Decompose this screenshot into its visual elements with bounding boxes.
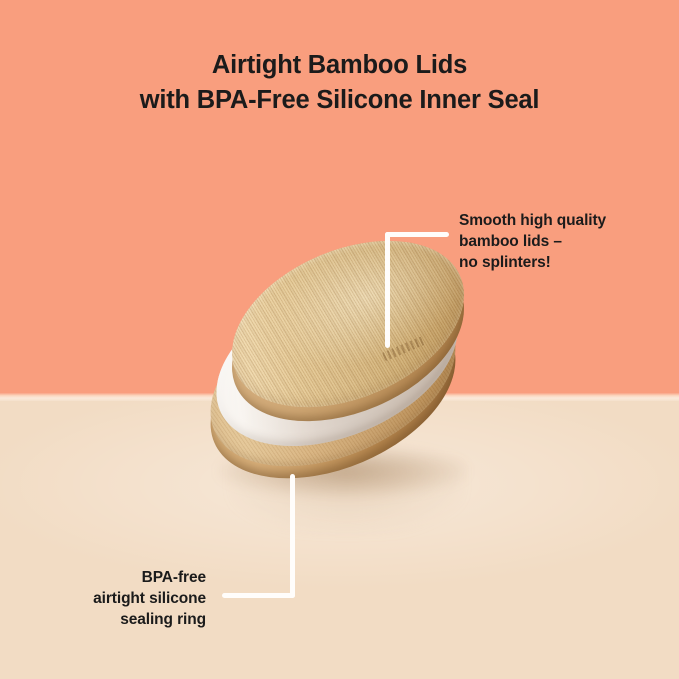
- title-line-1: Airtight Bamboo Lids: [212, 51, 467, 79]
- leader-line-right-vertical: [385, 232, 390, 348]
- callout-bamboo-quality-line-2: bamboo lids –: [459, 231, 659, 252]
- leader-line-bottom-horizontal: [222, 593, 295, 598]
- callout-silicone-seal-line-1: BPA-free: [20, 567, 206, 588]
- callout-silicone-seal-line-2: airtight silicone: [20, 588, 206, 609]
- page-title: Airtight Bamboo Lids with BPA-Free Silic…: [0, 48, 679, 118]
- leader-line-bottom-vertical: [290, 474, 295, 598]
- callout-bamboo-quality-line-3: no splinters!: [459, 252, 659, 273]
- leader-line-right-horizontal: [385, 232, 449, 237]
- product-infographic: Airtight Bamboo Lids with BPA-Free Silic…: [0, 0, 679, 679]
- title-line-2: with BPA-Free Silicone Inner Seal: [0, 83, 679, 118]
- callout-bamboo-quality-line-1: Smooth high quality: [459, 210, 659, 231]
- callout-silicone-seal-line-3: sealing ring: [20, 609, 206, 630]
- callout-silicone-seal: BPA-free airtight silicone sealing ring: [20, 567, 206, 630]
- bamboo-lid-product-image: [196, 248, 484, 516]
- callout-bamboo-quality: Smooth high quality bamboo lids – no spl…: [459, 210, 659, 273]
